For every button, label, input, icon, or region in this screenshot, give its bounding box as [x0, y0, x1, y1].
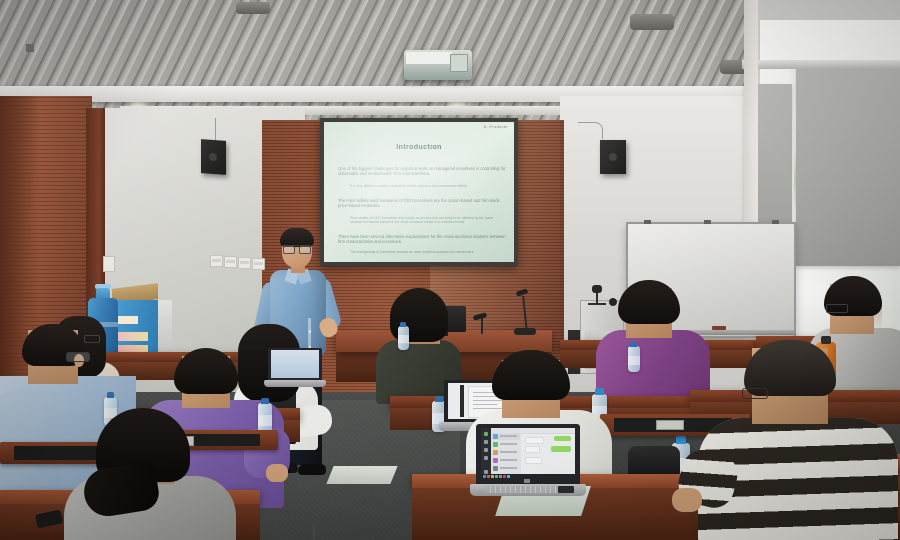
list-item[interactable] [492, 441, 520, 448]
chat-bubble-incoming-1 [525, 437, 544, 444]
list-item[interactable] [492, 465, 520, 472]
microphone-base [514, 328, 536, 335]
projector-lens [450, 54, 468, 72]
glasses-icon-striped-man [742, 388, 768, 399]
bench-plate-right [656, 420, 684, 430]
chat-contacts-icon[interactable] [484, 448, 488, 452]
glasses-icon-gray-man [826, 304, 848, 313]
wall-speaker-left [201, 139, 226, 175]
laptop-taskbar[interactable] [481, 474, 575, 478]
laptop-foreground-screen[interactable] [481, 428, 575, 478]
whiteboard-clip-left [644, 220, 651, 224]
water-bottle-2[interactable] [258, 398, 272, 434]
blind-rail [742, 60, 900, 69]
speaker-driver-left [209, 153, 217, 162]
light-switch[interactable] [103, 256, 115, 272]
ceiling-projector [404, 50, 472, 80]
box-label-1 [118, 316, 138, 324]
audience-woman-ponytail [56, 418, 238, 540]
seminar-room-photo: A. Producer Introduction One of the bigg… [0, 0, 900, 540]
laptop-trackpad[interactable] [558, 486, 574, 493]
glasses-icon-blue-man [66, 352, 90, 362]
wall-outlet-1[interactable] [210, 255, 223, 267]
chat-messages-icon[interactable] [484, 440, 488, 444]
paper-stack-left[interactable] [326, 466, 397, 484]
speaker-cable-right [578, 122, 603, 139]
chat-bubble-outgoing-2 [551, 446, 571, 452]
wall-speaker-right [600, 140, 626, 174]
wall-outlet-2[interactable] [224, 256, 237, 268]
chat-message-pane[interactable] [521, 428, 575, 478]
purple-hand [266, 464, 288, 482]
chat-bubble-outgoing-1 [554, 436, 571, 441]
list-item[interactable] [492, 457, 520, 464]
glasses-icon [283, 245, 311, 252]
roller-blind-right[interactable] [796, 66, 900, 266]
whiteboard-eraser[interactable] [712, 326, 726, 330]
wall-outlet-3[interactable] [238, 257, 251, 269]
presenter-shoe-right [298, 464, 326, 475]
list-item[interactable] [492, 433, 520, 440]
audience-man-striped-shirt [700, 348, 896, 540]
chat-conversation-list[interactable] [491, 428, 522, 478]
chat-bubble-incoming-3 [525, 457, 542, 464]
list-item[interactable] [492, 449, 520, 456]
striped-shirt-hand [672, 488, 702, 512]
blue-shirt-shoulder [0, 390, 60, 490]
document-sidebar [460, 385, 464, 417]
chat-files-icon[interactable] [484, 456, 488, 460]
speaker-driver-right [609, 153, 617, 161]
water-bottle-6[interactable] [628, 342, 640, 372]
chat-header [521, 428, 575, 434]
chat-bubble-incoming-2 [525, 446, 540, 453]
white-carton [158, 300, 172, 358]
laptop-foreground[interactable] [476, 424, 580, 496]
chat-app-sidebar[interactable] [481, 428, 491, 478]
whiteboard-clip-right [772, 220, 779, 224]
whiteboard-clip-center [704, 220, 711, 224]
orange-bottle-cap [821, 336, 831, 344]
water-bottle-3[interactable] [398, 322, 409, 350]
chat-avatar-icon[interactable] [484, 432, 488, 436]
laptop-brand-logo [524, 479, 530, 483]
projector-body [406, 52, 452, 64]
ceiling-light-fixture-3 [236, 2, 270, 14]
projector-mount [26, 44, 34, 52]
microphone-stem-2 [481, 318, 483, 334]
ceiling-light-fixture-1 [630, 14, 674, 30]
trouser-crease [313, 525, 315, 540]
speaker-cable-left [215, 118, 216, 142]
